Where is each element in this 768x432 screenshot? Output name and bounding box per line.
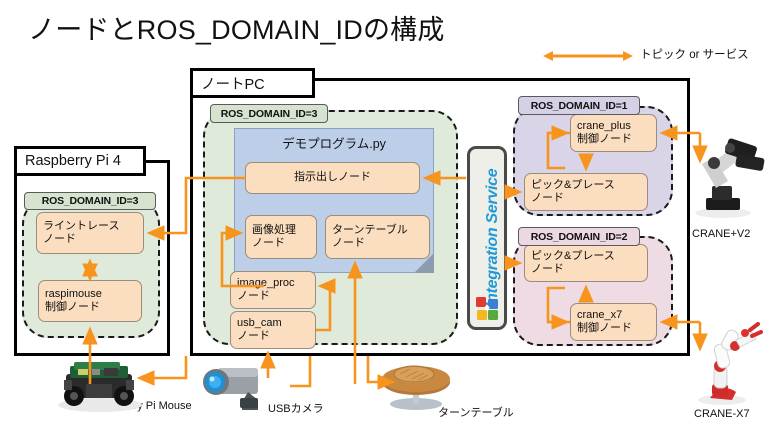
node-turntable[interactable]: ターンテーブル ノード	[325, 215, 430, 259]
puzzle-pieces-icon	[475, 296, 501, 322]
node-line-2: ノード	[43, 233, 137, 246]
node-line-1: image_proc	[237, 277, 309, 290]
node-line-1: 指示出しノード	[294, 171, 371, 184]
node-line-1: crane_x7	[577, 309, 650, 322]
integration-service-box[interactable]: Integration Service	[467, 146, 507, 330]
arrow-pc-to-camera	[290, 356, 310, 386]
node-line-2: 制御ノード	[577, 322, 650, 335]
node-line-1: usb_cam	[237, 317, 309, 330]
node-line-1: raspimouse	[45, 288, 135, 301]
arrow-to-raspberry-pi-mouse	[140, 356, 186, 378]
arrow-pc-to-turntable	[368, 356, 392, 382]
node-crane-x7-control[interactable]: crane_x7 制御ノード	[570, 303, 657, 341]
node-line-2: ノード	[252, 237, 310, 250]
node-line-2: 制御ノード	[45, 301, 135, 314]
node-pick-and-place-id2[interactable]: ピック&プレース ノード	[524, 244, 648, 282]
node-line-1: ピック&プレース	[531, 179, 641, 192]
node-line-2: ノード	[332, 237, 423, 250]
device-label-turntable: ターンテーブル	[438, 404, 514, 420]
node-line-1: ライントレース	[43, 220, 137, 233]
node-line-2: ノード	[531, 192, 641, 205]
node-line-1: ターンテーブル	[332, 224, 423, 237]
node-usb-cam[interactable]: usb_cam ノード	[230, 311, 316, 349]
device-label-usb-camera: USBカメラ	[268, 400, 324, 416]
black-robot-arm-photo	[695, 138, 765, 218]
page-title: ノードとROS_DOMAIN_IDの構成	[28, 8, 528, 44]
domain-tag-id2: ROS_DOMAIN_ID=2	[518, 227, 640, 246]
domain-tag-pc-id3: ROS_DOMAIN_ID=3	[210, 104, 328, 123]
node-line-1: 画像処理	[252, 224, 310, 237]
node-instruction-publisher[interactable]: 指示出しノード	[245, 162, 420, 194]
node-line-trace[interactable]: ライントレース ノード	[36, 212, 144, 254]
demo-program-title: デモプログラム.py	[234, 133, 434, 152]
node-line-2: ノード	[237, 330, 309, 343]
device-label-crane-plus-v2: CRANE+V2	[692, 228, 750, 240]
legend-double-arrow-icon	[543, 50, 633, 62]
node-line-2: ノード	[531, 263, 641, 276]
domain-tag-rpi-id3: ROS_DOMAIN_ID=3	[24, 192, 156, 210]
raspberry-pi-frame-label: Raspberry Pi 4	[14, 146, 146, 176]
diagram-canvas: ノードとROS_DOMAIN_IDの構成 トピック or サービス	[0, 0, 768, 432]
node-pick-and-place-id1[interactable]: ピック&プレース ノード	[524, 173, 648, 211]
node-line-1: ピック&プレース	[531, 250, 641, 263]
node-raspimouse-control[interactable]: raspimouse 制御ノード	[38, 280, 142, 322]
device-label-raspberry-pi-mouse: Raspberry Pi Mouse	[92, 400, 192, 412]
node-image-processing[interactable]: 画像処理 ノード	[245, 215, 317, 259]
node-line-1: crane_plus	[577, 120, 650, 133]
laptop-pc-frame-label: ノートPC	[190, 68, 315, 98]
node-line-2: 制御ノード	[577, 133, 650, 146]
node-image-proc[interactable]: image_proc ノード	[230, 271, 316, 309]
white-red-robot-arm-photo	[698, 324, 761, 405]
device-label-crane-x7: CRANE-X7	[694, 408, 750, 420]
legend-label: トピック or サービス	[640, 46, 749, 62]
camera-photo	[203, 368, 258, 410]
node-crane-plus-control[interactable]: crane_plus 制御ノード	[570, 114, 657, 152]
domain-tag-id1: ROS_DOMAIN_ID=1	[518, 96, 640, 115]
node-line-2: ノード	[237, 290, 309, 303]
